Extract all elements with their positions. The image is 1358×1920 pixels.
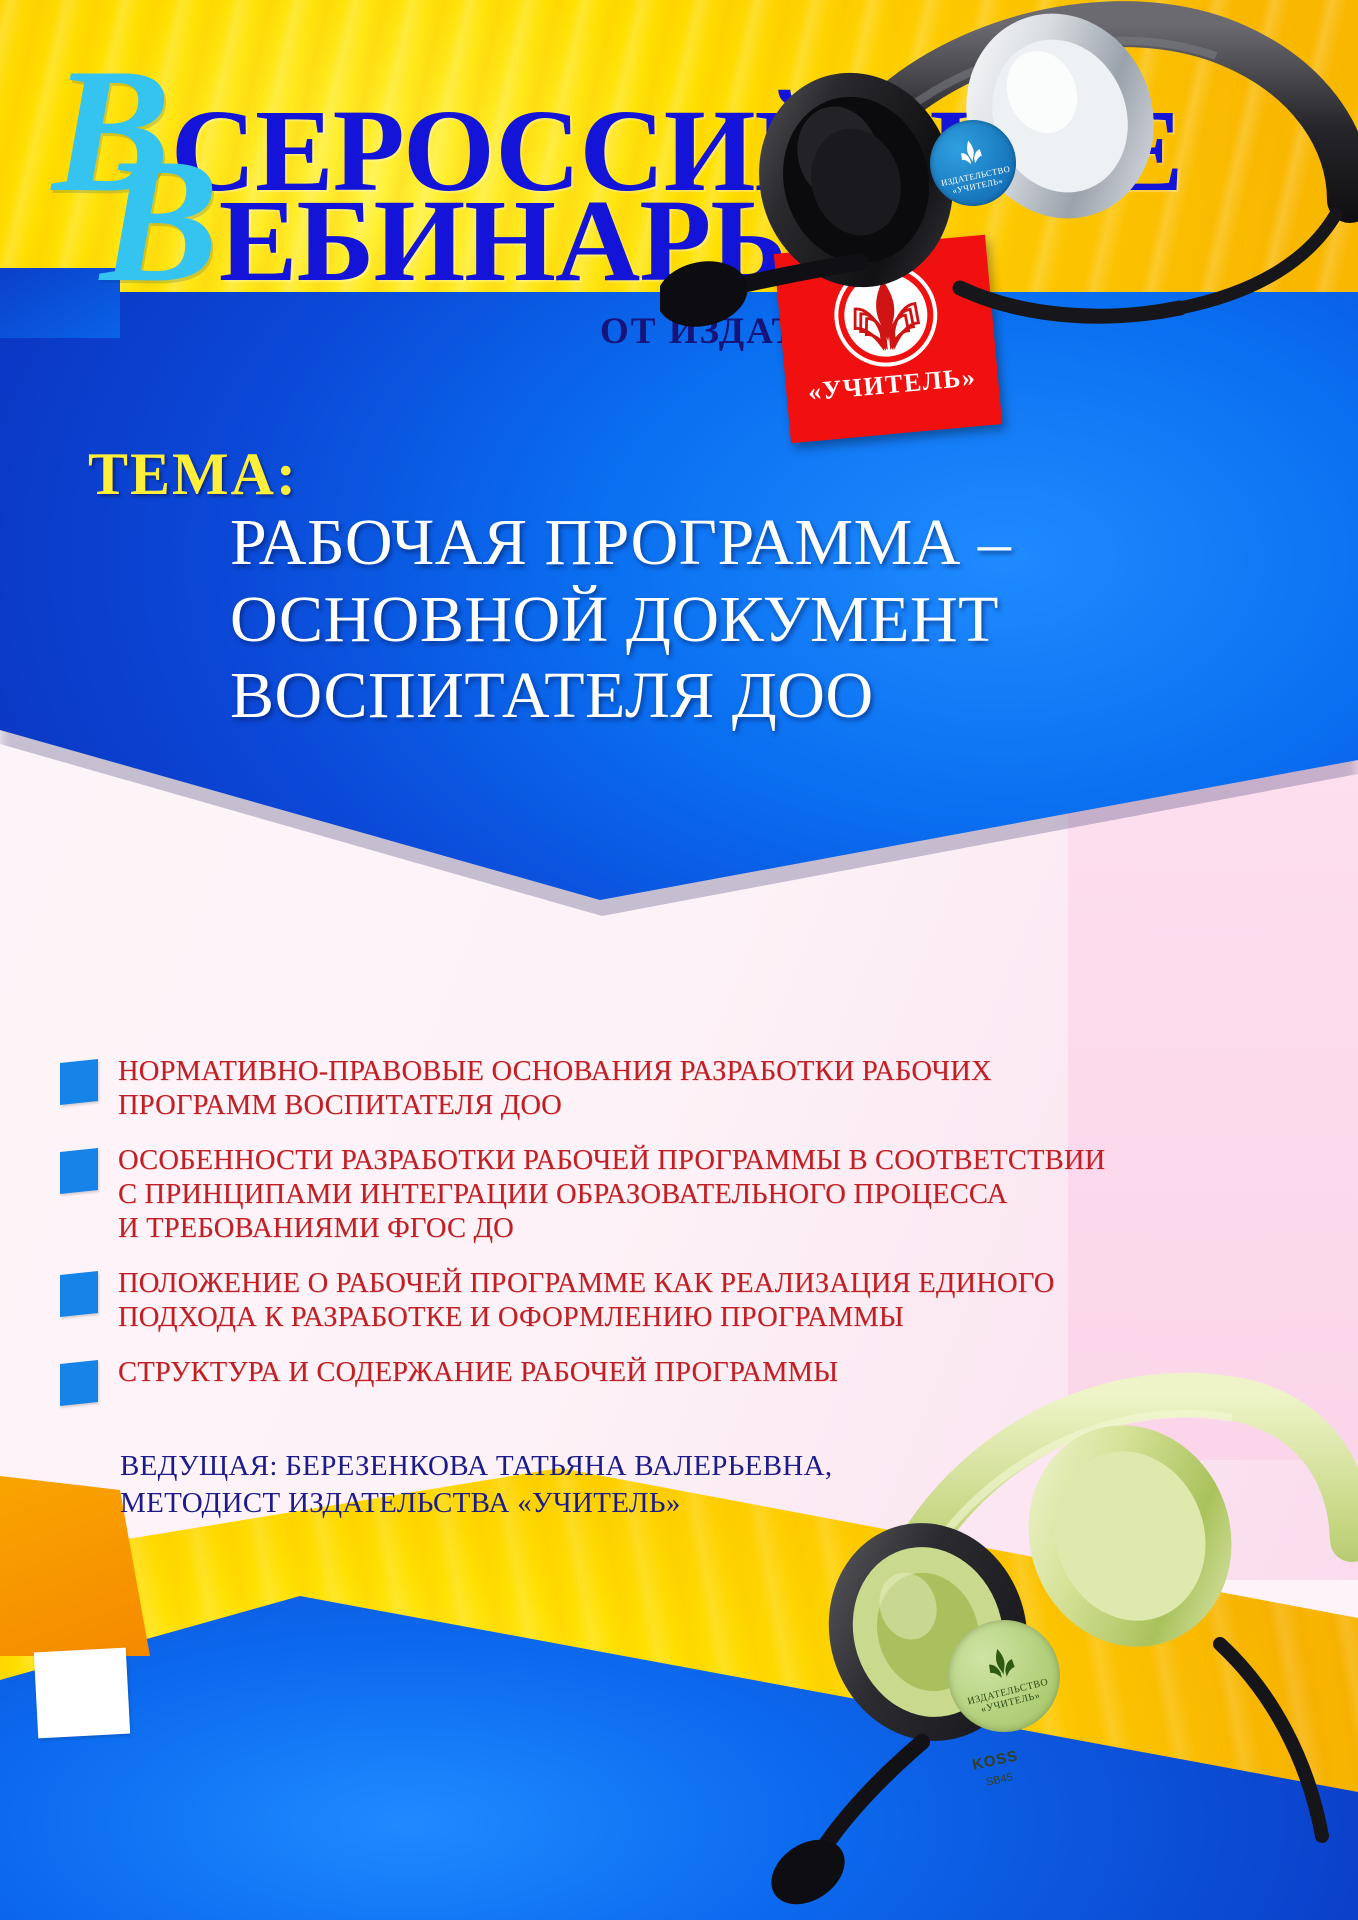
book-flame-emblem-icon	[976, 1639, 1027, 1690]
list-item: НОРМАТИВНО-ПРАВОВЫЕ ОСНОВАНИЯ РАЗРАБОТКИ…	[60, 1055, 1120, 1122]
headset-bottom-image	[660, 1240, 1358, 1920]
list-item-text: НОРМАТИВНО-ПРАВОВЫЕ ОСНОВАНИЯ РАЗРАБОТКИ…	[118, 1055, 992, 1122]
list-item-line: НОРМАТИВНО-ПРАВОВЫЕ ОСНОВАНИЯ РАЗРАБОТКИ…	[118, 1055, 992, 1089]
bullet-square-icon	[60, 1271, 98, 1317]
list-item-line: ПРОГРАММ ВОСПИТАТЕЛЯ ДОО	[118, 1089, 992, 1123]
header-line-2-capital: В	[100, 121, 219, 319]
bullet-square-icon	[60, 1059, 98, 1105]
title-line-2: ОСНОВНОЙ ДОКУМЕНТ	[230, 582, 1270, 659]
list-item-line: ОСОБЕННОСТИ РАЗРАБОТКИ РАБОЧЕЙ ПРОГРАММЫ…	[118, 1144, 1105, 1178]
page-title: РАБОЧАЯ ПРОГРАММА – ОСНОВНОЙ ДОКУМЕНТ ВО…	[230, 505, 1270, 735]
bottom-white-square	[34, 1648, 130, 1739]
title-line-1: РАБОЧАЯ ПРОГРАММА –	[230, 505, 1270, 582]
title-line-3: ВОСПИТАТЕЛЯ ДОО	[230, 658, 1270, 735]
list-item-text: ОСОБЕННОСТИ РАЗРАБОТКИ РАБОЧЕЙ ПРОГРАММЫ…	[118, 1144, 1105, 1245]
bullet-square-icon	[60, 1360, 98, 1406]
bullet-square-icon	[60, 1148, 98, 1194]
list-item-line: С ПРИНЦИПАМИ ИНТЕГРАЦИИ ОБРАЗОВАТЕЛЬНОГО…	[118, 1178, 1105, 1212]
topic-label: ТЕМА:	[88, 440, 298, 509]
list-item: ОСОБЕННОСТИ РАЗРАБОТКИ РАБОЧЕЙ ПРОГРАММЫ…	[60, 1144, 1120, 1245]
book-flame-emblem-icon	[951, 133, 991, 173]
webinar-poster: ВСЕРОССИЙСКИЕ ВЕБИНАРЫ ОТ ИЗДАТЕЛЬСТВА	[0, 0, 1358, 1920]
